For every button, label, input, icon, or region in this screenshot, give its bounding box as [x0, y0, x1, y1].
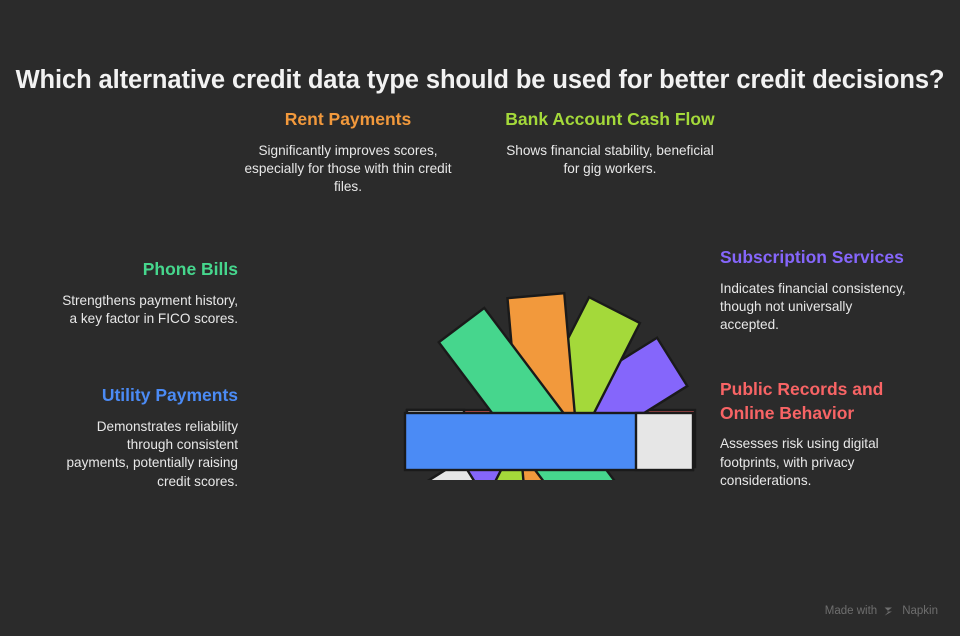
- blade-utility-payments[interactable]: [405, 413, 693, 470]
- watermark-brand-label: Napkin: [902, 606, 938, 618]
- node-phone-bills-description: Strengthens payment history, a key facto…: [62, 292, 238, 329]
- node-public-records-description: Assesses risk using digital footprints, …: [720, 435, 916, 490]
- napkin-watermark[interactable]: Made with Napkin: [825, 605, 938, 618]
- infographic-canvas: Which alternative credit data type shoul…: [0, 0, 960, 636]
- page-title: Which alternative credit data type shoul…: [0, 65, 960, 97]
- watermark-made-with-label: Made with: [825, 606, 877, 618]
- node-phone-bills[interactable]: Phone Bills Strengthens payment history,…: [62, 258, 238, 328]
- node-subscription-services-description: Indicates financial consistency, though …: [720, 280, 906, 335]
- node-rent-payments-description: Significantly improves scores, especiall…: [240, 142, 456, 197]
- node-public-records-heading: Public Records and Online Behavior: [720, 378, 916, 425]
- node-public-records-and-online-behavior[interactable]: Public Records and Online Behavior Asses…: [720, 378, 916, 490]
- fan-diagram: [255, 190, 705, 480]
- blade-utility-card: [636, 413, 693, 470]
- node-rent-payments-heading: Rent Payments: [240, 108, 456, 132]
- node-rent-payments[interactable]: Rent Payments Significantly improves sco…: [240, 108, 456, 197]
- node-utility-payments-description: Demonstrates reliability through consist…: [62, 418, 238, 491]
- node-utility-payments[interactable]: Utility Payments Demonstrates reliabilit…: [62, 384, 238, 491]
- node-phone-bills-heading: Phone Bills: [62, 258, 238, 282]
- node-bank-account-cash-flow[interactable]: Bank Account Cash Flow Shows financial s…: [500, 108, 720, 178]
- node-subscription-services[interactable]: Subscription Services Indicates financia…: [720, 246, 906, 335]
- napkin-logo-icon: [883, 605, 896, 618]
- node-bank-account-cash-flow-heading: Bank Account Cash Flow: [500, 108, 720, 132]
- node-bank-account-cash-flow-description: Shows financial stability, beneficial fo…: [500, 142, 720, 179]
- node-utility-payments-heading: Utility Payments: [62, 384, 238, 408]
- node-subscription-services-heading: Subscription Services: [720, 246, 906, 270]
